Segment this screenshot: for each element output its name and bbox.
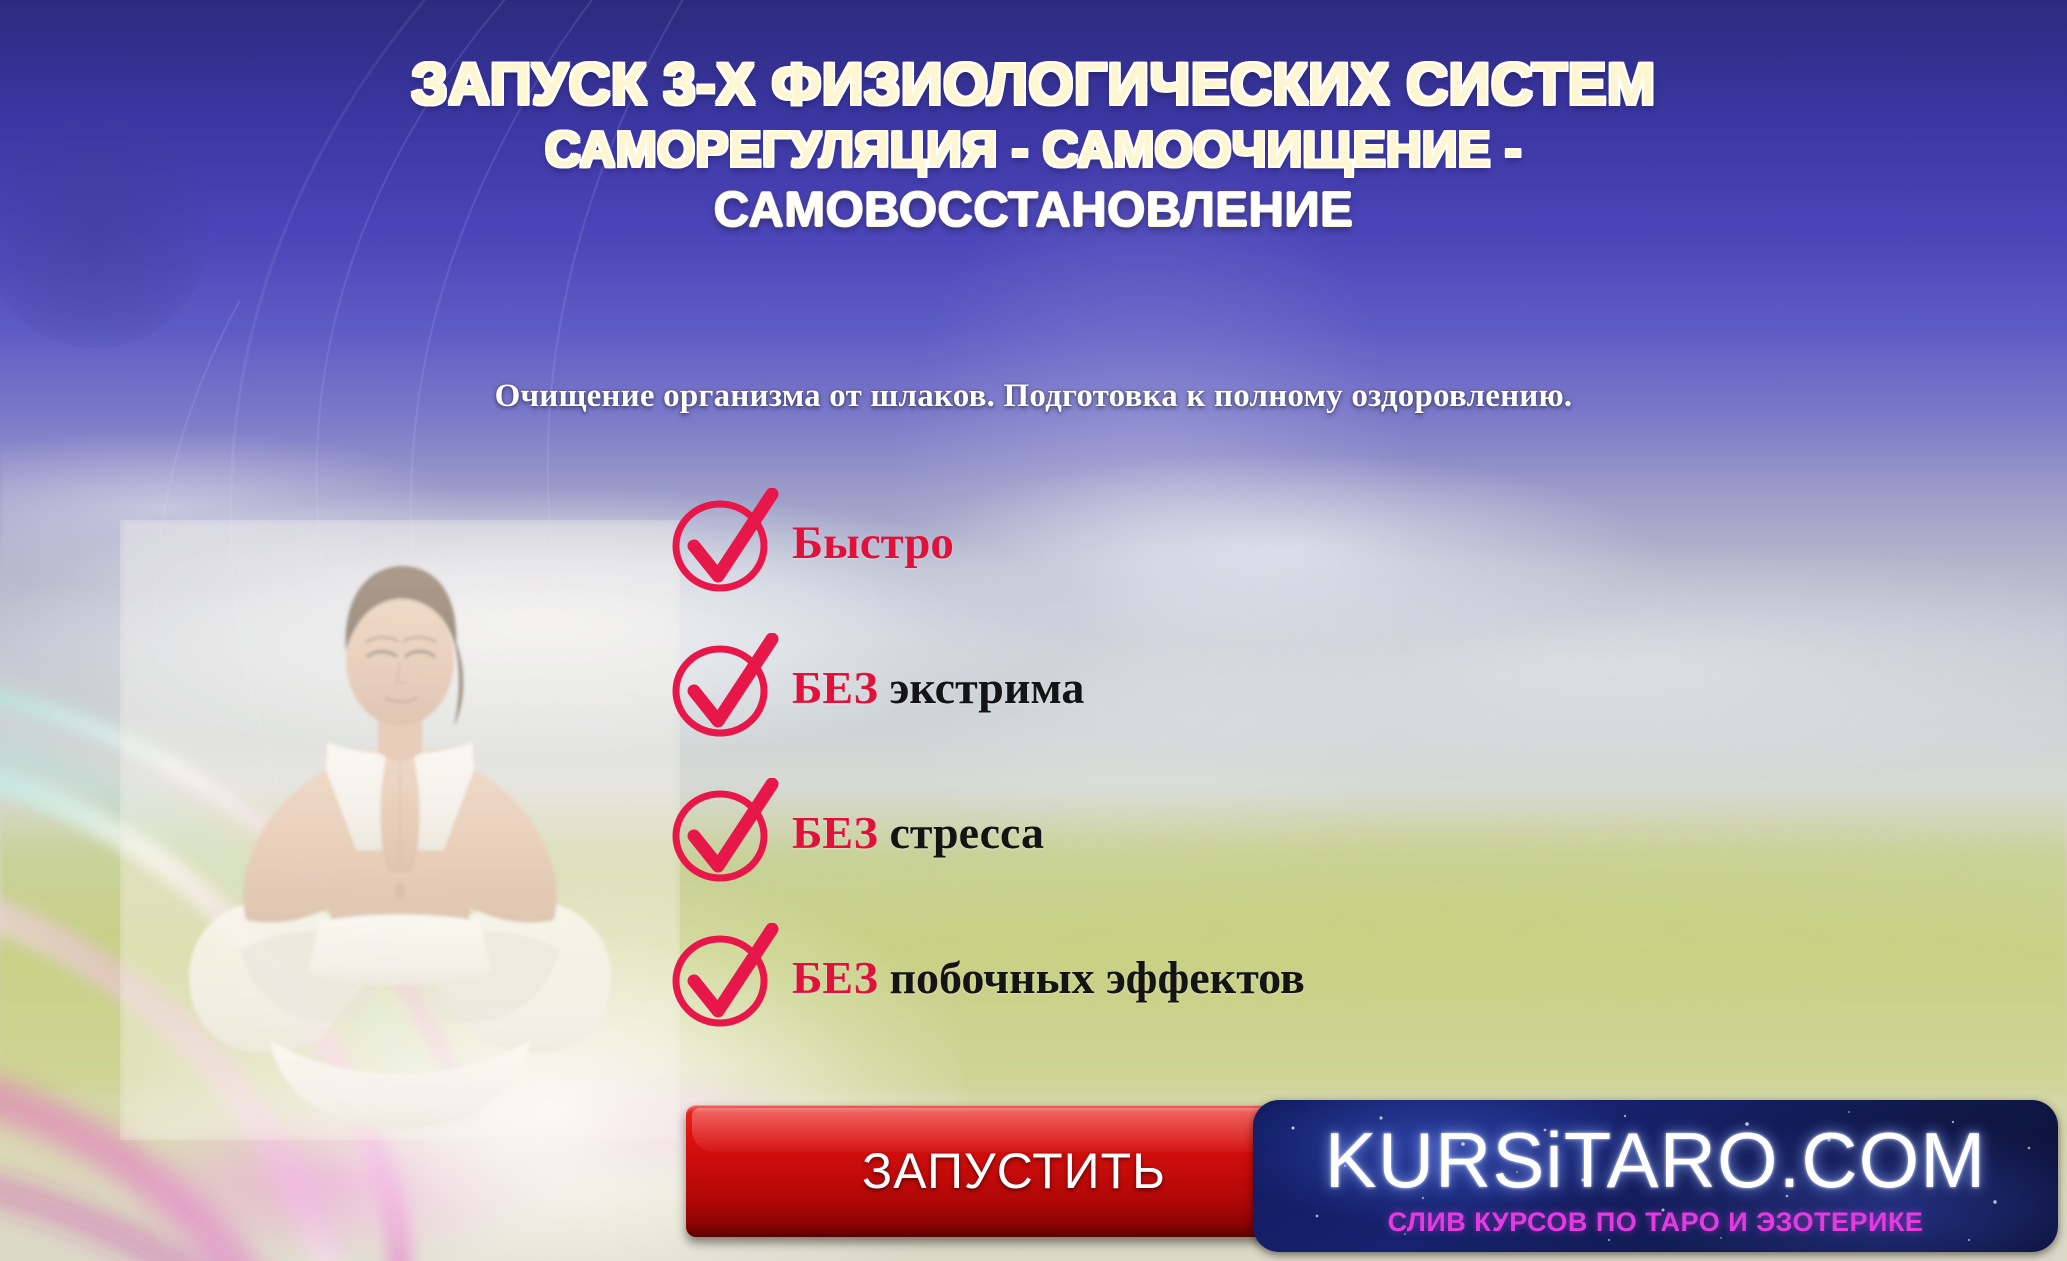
check-circle-icon (668, 633, 788, 743)
promo-banner: ЗАПУСК 3-Х ФИЗИОЛОГИЧЕСКИХ СИСТЕМ САМОРЕ… (0, 0, 2067, 1261)
list-item-label: БЕЗ побочных эффектов (792, 951, 1305, 1004)
list-item-keyword: БЕЗ (792, 952, 878, 1003)
list-item-rest: стресса (878, 807, 1044, 858)
launch-button-label: ЗАПУСТИТЬ (862, 1142, 1166, 1200)
list-item-keyword: БЕЗ (792, 807, 878, 858)
list-item: Быстро (668, 470, 1868, 615)
subtitle-text: Очищение организма от шлаков. Подготовка… (0, 378, 2067, 415)
meditating-woman-illustration (120, 520, 680, 1140)
list-item: БЕЗ стресса (668, 760, 1868, 905)
list-item-label: Быстро (792, 516, 954, 570)
list-item-rest: побочных эффектов (878, 952, 1305, 1003)
list-item-keyword: БЕЗ (792, 662, 878, 713)
list-item-keyword: Быстро (792, 517, 954, 569)
watermark-domain: KURSiTARO.COM (1325, 1121, 1987, 1199)
watermark-tagline: СЛИВ КУРСОВ ПО ТАРО И ЭЗОТЕРИКЕ (1388, 1209, 1924, 1236)
watermark-logo: KURSiTARO.COM СЛИВ КУРСОВ ПО ТАРО И ЭЗОТ… (1253, 1100, 2058, 1252)
list-item: БЕЗ экстрима (668, 615, 1868, 760)
check-circle-icon (668, 778, 788, 888)
list-item-rest: экстрима (878, 662, 1084, 713)
benefits-list: Быстро БЕЗ экстрима БЕЗ стресса (668, 470, 1868, 1050)
list-item-label: БЕЗ стресса (792, 806, 1044, 859)
list-item-label: БЕЗ экстрима (792, 661, 1084, 714)
check-circle-icon (668, 488, 788, 598)
check-circle-icon (668, 923, 788, 1033)
list-item: БЕЗ побочных эффектов (668, 905, 1868, 1050)
